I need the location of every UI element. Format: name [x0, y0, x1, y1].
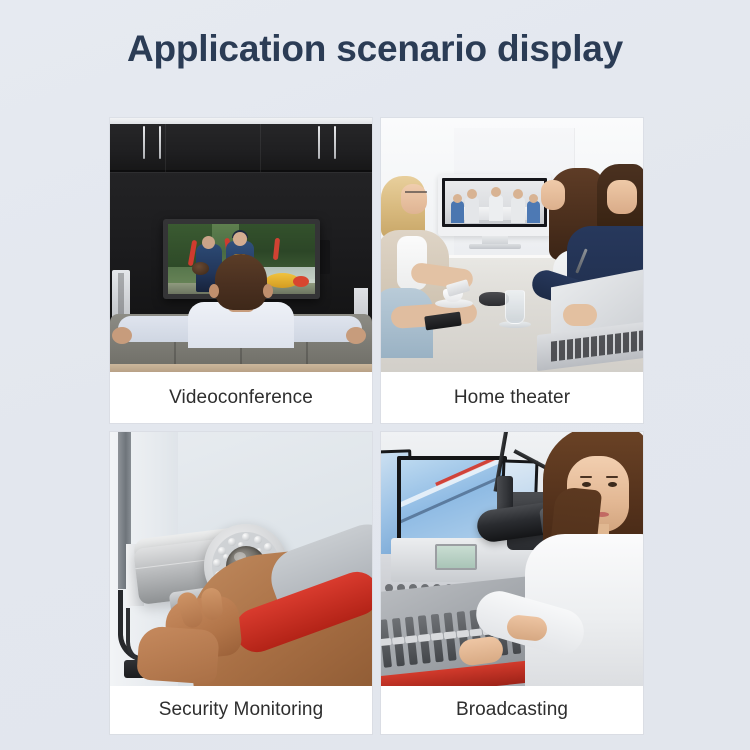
remote-participant [451, 201, 464, 223]
viewer-ear [209, 284, 219, 298]
fader [405, 617, 418, 666]
remote-participant [489, 195, 503, 221]
fader [381, 619, 392, 668]
ir-led-icon [213, 559, 221, 567]
overhead-cabinets [110, 124, 372, 172]
cabinet-handle [334, 126, 336, 159]
presenter-eye [582, 482, 591, 487]
ir-led-icon [254, 536, 262, 544]
kayaker-head [202, 236, 215, 249]
fader [444, 612, 457, 661]
typing-hand [563, 304, 597, 326]
cabinet-handle [143, 126, 145, 159]
floor [110, 364, 372, 372]
left-hand [112, 327, 132, 344]
presenter-brow [580, 476, 592, 478]
installer-hand [136, 625, 220, 684]
ir-led-icon [228, 538, 236, 546]
desktop-monitor [438, 174, 551, 236]
monitor-base [469, 244, 521, 249]
fader [431, 614, 444, 663]
remote-head [513, 189, 523, 199]
remote-head [453, 194, 462, 203]
scenario-card-security-monitoring[interactable]: Security Monitoring [110, 432, 372, 734]
presenter-eye [608, 482, 617, 487]
eyeglasses [405, 191, 427, 197]
scenario-card-videoconference[interactable]: Videoconference [110, 118, 372, 423]
card-caption-videoconference: Videoconference [110, 372, 372, 423]
cabinet-seam [260, 124, 261, 172]
monitor-screen [442, 178, 547, 227]
presenter-brow [606, 476, 618, 478]
remote-head [529, 194, 538, 203]
conference-room-photo [381, 118, 643, 372]
application-scenario-page: Application scenario display [0, 0, 750, 750]
scenario-cards-grid: Videoconference [110, 118, 643, 734]
viewer-head [215, 254, 267, 310]
video-call-feed [445, 181, 544, 224]
held-object [192, 262, 209, 275]
card-caption-home-theater: Home theater [381, 372, 643, 423]
finger [200, 587, 223, 621]
remote-participant [465, 197, 479, 223]
remote-participant [511, 197, 525, 223]
scenario-card-broadcasting[interactable]: Broadcasting [381, 432, 643, 734]
security-camera-photo [110, 432, 372, 686]
remote-head [467, 189, 477, 199]
page-title: Application scenario display [0, 28, 750, 70]
water-glass [505, 290, 525, 324]
red-gear [293, 276, 309, 287]
attendee-face [541, 180, 565, 210]
ir-led-icon [242, 533, 250, 541]
remote-participant [527, 201, 540, 223]
cabinet-handle [159, 126, 161, 159]
cabinet-seam [165, 124, 166, 172]
attendee-face [401, 184, 427, 214]
ir-led-icon [264, 543, 272, 551]
home-theatre-photo [110, 118, 372, 372]
broadcast-studio-photo [381, 432, 643, 686]
fader [392, 618, 405, 667]
card-caption-security-monitoring: Security Monitoring [110, 686, 372, 734]
panel-lcd-display [435, 544, 477, 570]
scenario-card-home-theater[interactable]: Home theater [381, 118, 643, 423]
fader [418, 615, 431, 664]
card-caption-broadcasting: Broadcasting [381, 686, 643, 734]
viewer-ear [263, 284, 273, 298]
cabinet-handle [318, 126, 320, 159]
kayaker-head [233, 232, 247, 246]
attendee-face [607, 180, 637, 214]
wall-line [110, 172, 372, 173]
right-hand [346, 327, 366, 344]
remote-head [491, 187, 501, 197]
